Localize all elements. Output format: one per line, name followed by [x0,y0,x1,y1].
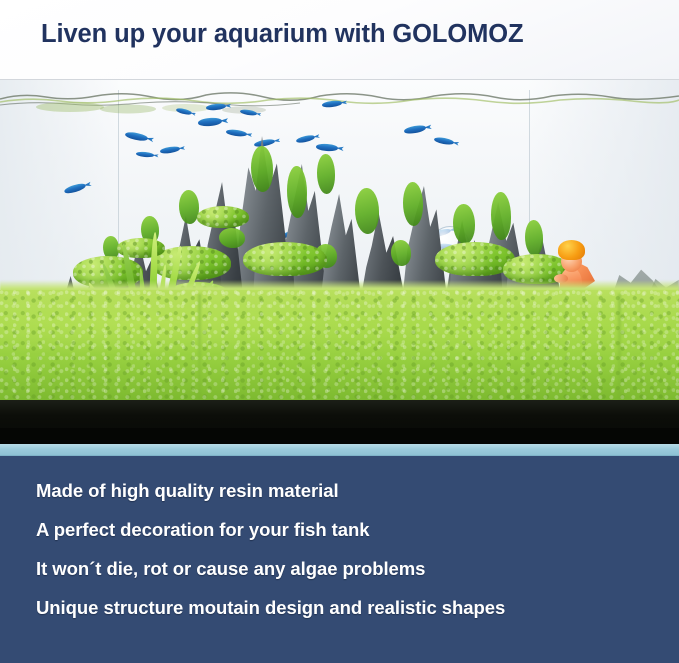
moss-bush [243,242,327,276]
moss-patch [317,154,335,194]
moss-patch [391,240,411,266]
tank-base-front [0,428,679,444]
feature-item: A perfect decoration for your fish tank [36,519,370,541]
grass-seam [618,294,621,402]
moss-patch [403,182,423,226]
feature-item: It won´t die, rot or cause any algae pro… [36,558,425,580]
moss-patch [453,204,475,244]
grass-seam [198,294,201,402]
carpet-grass-substrate [0,290,679,402]
moss-patch [287,166,307,218]
moss-patch [355,188,379,234]
moss-bush [197,206,249,228]
aquarium-product-photo [0,80,679,444]
moss-patch [525,220,543,256]
features-panel: Made of high quality resin material A pe… [0,456,679,663]
moss-patch [179,190,199,224]
feature-item: Unique structure moutain design and real… [36,597,505,619]
feature-item: Made of high quality resin material [36,480,339,502]
cherub-hair [558,240,585,260]
fish [198,117,222,127]
section-divider-strip [0,444,679,456]
moss-patch [251,146,273,192]
header-banner: Liven up your aquarium with GOLOMOZ [0,0,679,80]
moss-patch [219,228,245,248]
page-title: Liven up your aquarium with GOLOMOZ [41,20,523,49]
moss-patch [491,192,511,240]
tank-base-shadow [0,400,679,444]
